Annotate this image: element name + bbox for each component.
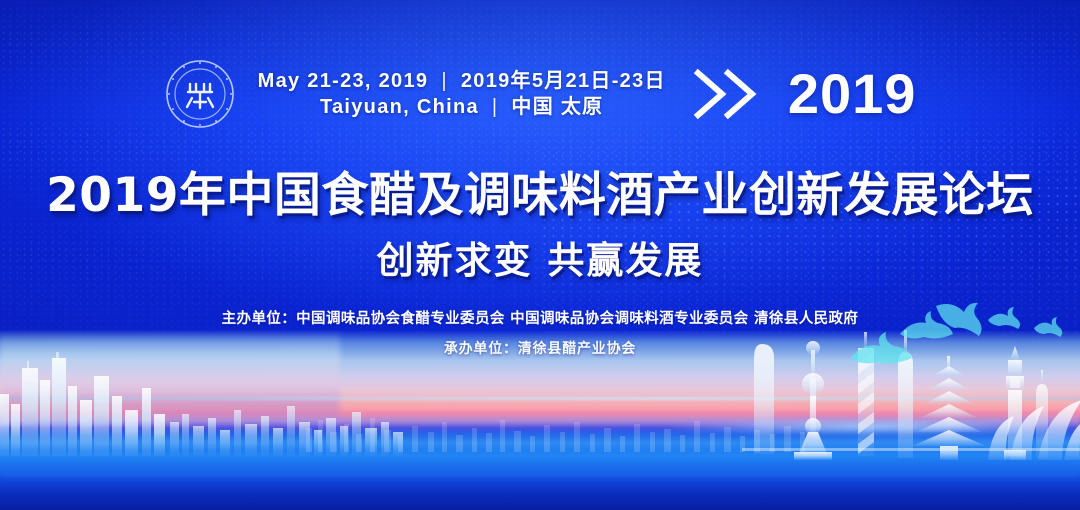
double-chevron-right-icon — [692, 67, 766, 121]
year-number: 2019 — [788, 66, 917, 122]
co-organizer-line: 承办单位：清徐县醋产业协会 — [0, 338, 1080, 358]
date-en-text: May 21-23, 2019 — [258, 68, 429, 94]
header-row: May 21-23, 2019 | 2019年5月21日-23日 Taiyuan… — [0, 56, 1080, 132]
date-cn-text: 2019年5月21日-23日 — [461, 68, 666, 94]
date-location-block: May 21-23, 2019 | 2019年5月21日-23日 Taiyuan… — [258, 68, 666, 121]
separator-1: | — [441, 68, 448, 94]
organizer-line: 主办单位：中国调味品协会食醋专业委员会 中国调味品协会调味料酒专业委员会 清徐县… — [0, 307, 1080, 328]
vinegar-association-seal-logo-icon — [164, 58, 236, 130]
main-title: 2019年中国食醋及调味料酒产业创新发展论坛 — [0, 156, 1080, 225]
city-en-text: Taiyuan, China — [320, 94, 479, 120]
sub-title: 创新求变 共赢发展 — [0, 230, 1080, 284]
conference-banner: May 21-23, 2019 | 2019年5月21日-23日 Taiyuan… — [0, 0, 1080, 510]
city-cn-text: 中国 太原 — [511, 94, 603, 120]
separator-2: | — [492, 94, 499, 120]
